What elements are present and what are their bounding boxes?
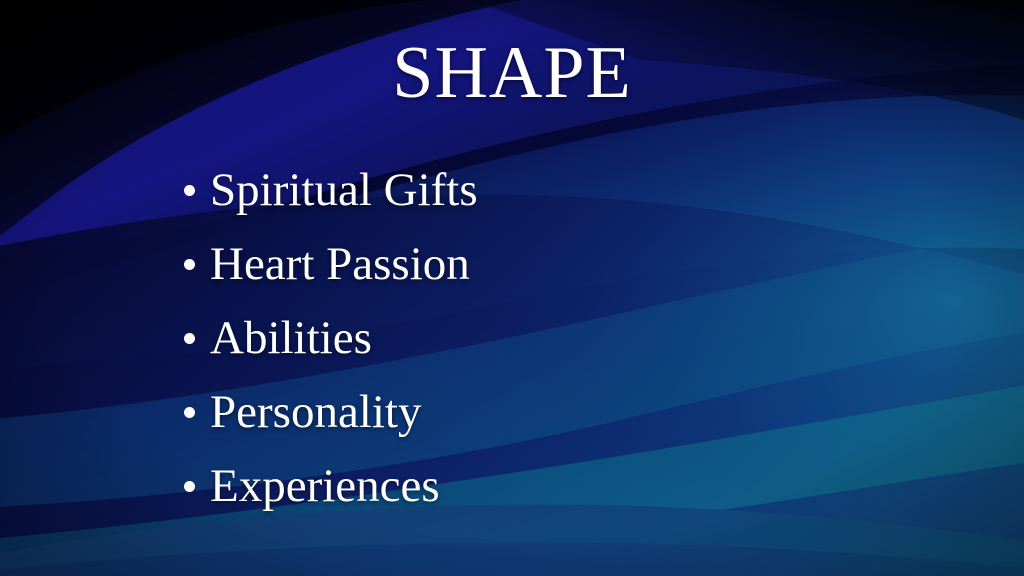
bullet-dot-icon (184, 259, 195, 270)
list-item: Personality (175, 377, 895, 451)
page-title: SHAPE (0, 36, 1024, 110)
bullet-dot-icon (184, 333, 195, 344)
list-item-label: Spiritual Gifts (210, 155, 478, 225)
bullet-dot-icon (184, 185, 195, 196)
list-item-label: Experiences (210, 451, 440, 521)
list-item-label: Personality (210, 377, 421, 447)
list-item-label: Heart Passion (210, 229, 470, 299)
list-item: Abilities (175, 303, 895, 377)
bullet-list: Spiritual Gifts Heart Passion Abilities … (175, 155, 895, 525)
slide-canvas: SHAPE Spiritual Gifts Heart Passion Abil… (0, 0, 1024, 576)
list-item: Heart Passion (175, 229, 895, 303)
list-item: Experiences (175, 451, 895, 525)
list-item-label: Abilities (210, 303, 372, 373)
bullet-dot-icon (184, 481, 195, 492)
list-item: Spiritual Gifts (175, 155, 895, 229)
slide-content: SHAPE Spiritual Gifts Heart Passion Abil… (0, 0, 1024, 576)
bullet-dot-icon (184, 407, 195, 418)
